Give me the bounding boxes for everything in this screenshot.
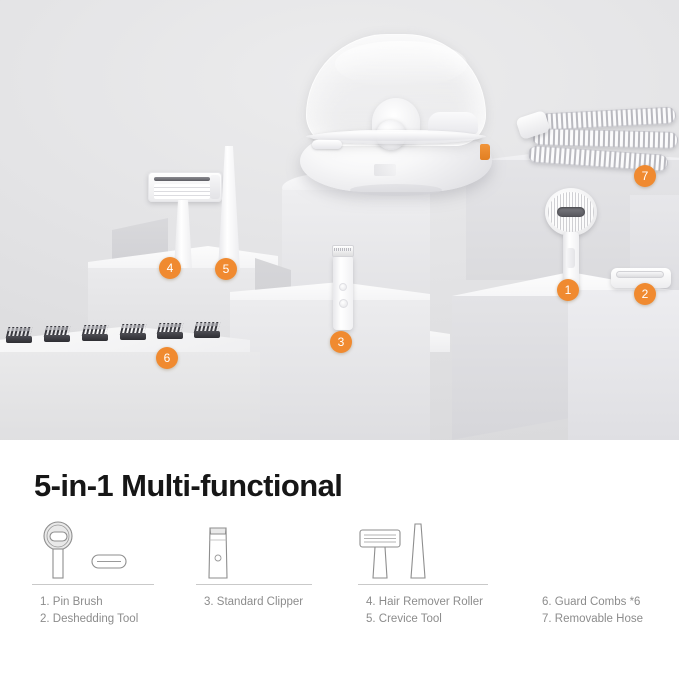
- photo-badge-5-label: 5: [223, 262, 230, 276]
- crevice-tool-body: [218, 146, 240, 270]
- feature-column-3-art: [358, 520, 488, 582]
- deshedding-tool-lip: [616, 271, 664, 278]
- photo-badge-7-label: 7: [642, 169, 649, 183]
- roller-grill: [154, 184, 210, 199]
- feature-label: 1. Pin Brush: [40, 594, 138, 611]
- feature-columns: 1. Pin Brush 2. Deshedding Tool 3. Stan: [0, 520, 679, 670]
- feature-column-2-rule: [196, 584, 312, 585]
- guard-comb: [6, 323, 32, 343]
- photo-badge-2[interactable]: 2: [634, 283, 656, 305]
- feature-label: 2. Deshedding Tool: [40, 611, 138, 628]
- roller-blade-strip: [154, 177, 210, 181]
- deshedding-tool-icon: [90, 550, 130, 574]
- feature-column-4-labels: 6. Guard Combs *6 7. Removable Hose: [542, 594, 643, 628]
- guard-comb: [120, 320, 146, 340]
- photo-badge-6[interactable]: 6: [156, 347, 178, 369]
- crevice-tool-icon: [406, 522, 432, 582]
- pin-brush-button: [566, 248, 575, 268]
- feature-column-3-labels: 4. Hair Remover Roller 5. Crevice Tool: [366, 594, 483, 628]
- pedestal-right-front: [452, 296, 570, 440]
- photo-badge-6-label: 6: [164, 351, 171, 365]
- feature-label: 6. Guard Combs *6: [542, 594, 643, 611]
- roller-handle: [174, 200, 192, 268]
- photo-badge-7[interactable]: 7: [634, 165, 656, 187]
- feature-column-3: 4. Hair Remover Roller 5. Crevice Tool: [358, 520, 488, 582]
- feature-column-3-rule: [358, 584, 488, 585]
- guard-comb: [44, 322, 70, 342]
- pedestal-center-low-front: [230, 300, 430, 440]
- feature-column-4-art: [534, 520, 674, 582]
- photo-badge-3[interactable]: 3: [330, 331, 352, 353]
- feature-column-2: 3. Standard Clipper: [196, 520, 312, 582]
- clipper-button-upper: [339, 283, 347, 291]
- platform-left-front: [0, 352, 260, 440]
- guard-comb: [82, 321, 108, 341]
- grooming-vacuum-sphere: [300, 34, 492, 192]
- sphere-orange-tab: [480, 144, 490, 160]
- sphere-logo: [374, 164, 396, 176]
- hair-remover-roller-product: [148, 172, 222, 270]
- guard-combs-row: [6, 318, 206, 344]
- hose-coil: [532, 128, 678, 149]
- product-image-page: 1 2 3 4 5 6 7 5-in-1 Multi-functional: [0, 0, 679, 679]
- product-hero-photo: 1 2 3 4 5 6 7: [0, 0, 679, 440]
- removable-hose: [518, 108, 676, 174]
- photo-badge-4-label: 4: [167, 261, 174, 275]
- dome-highlight: [335, 41, 467, 87]
- feature-label: 5. Crevice Tool: [366, 611, 483, 628]
- standard-clipper-product: [331, 245, 355, 330]
- guard-comb: [157, 319, 183, 339]
- crevice-tool-product: [218, 146, 240, 270]
- photo-badge-5[interactable]: 5: [215, 258, 237, 280]
- photo-badge-1[interactable]: 1: [557, 279, 579, 301]
- feature-column-1-art: [32, 520, 154, 582]
- info-panel: 5-in-1 Multi-functional: [0, 440, 679, 679]
- clipper-button-lower: [339, 299, 348, 308]
- photo-badge-1-label: 1: [565, 283, 572, 297]
- feature-label: 3. Standard Clipper: [204, 594, 303, 611]
- photo-badge-3-label: 3: [338, 335, 345, 349]
- feature-label: 4. Hair Remover Roller: [366, 594, 483, 611]
- feature-column-1-labels: 1. Pin Brush 2. Deshedding Tool: [40, 594, 138, 628]
- clipper-body: [333, 256, 353, 330]
- sphere-foot: [350, 184, 442, 196]
- pin-brush-slot: [557, 207, 585, 217]
- feature-column-1-rule: [32, 584, 154, 585]
- clipper-blade-teeth: [334, 248, 352, 251]
- standard-clipper-icon: [202, 520, 242, 582]
- photo-badge-2-label: 2: [642, 287, 649, 301]
- feature-column-2-art: [196, 520, 312, 582]
- feature-column-4: 6. Guard Combs *6 7. Removable Hose: [534, 520, 674, 582]
- feature-column-2-labels: 3. Standard Clipper: [204, 594, 303, 611]
- pedestal-right-side: [568, 290, 679, 440]
- guard-comb: [194, 318, 220, 338]
- clipper-blade: [332, 245, 354, 257]
- hose-coil: [540, 106, 677, 130]
- photo-badge-4[interactable]: 4: [159, 257, 181, 279]
- feature-column-1: 1. Pin Brush 2. Deshedding Tool: [32, 520, 154, 582]
- feature-label: 7. Removable Hose: [542, 611, 643, 628]
- sphere-latch: [312, 140, 342, 149]
- page-title: 5-in-1 Multi-functional: [34, 468, 342, 504]
